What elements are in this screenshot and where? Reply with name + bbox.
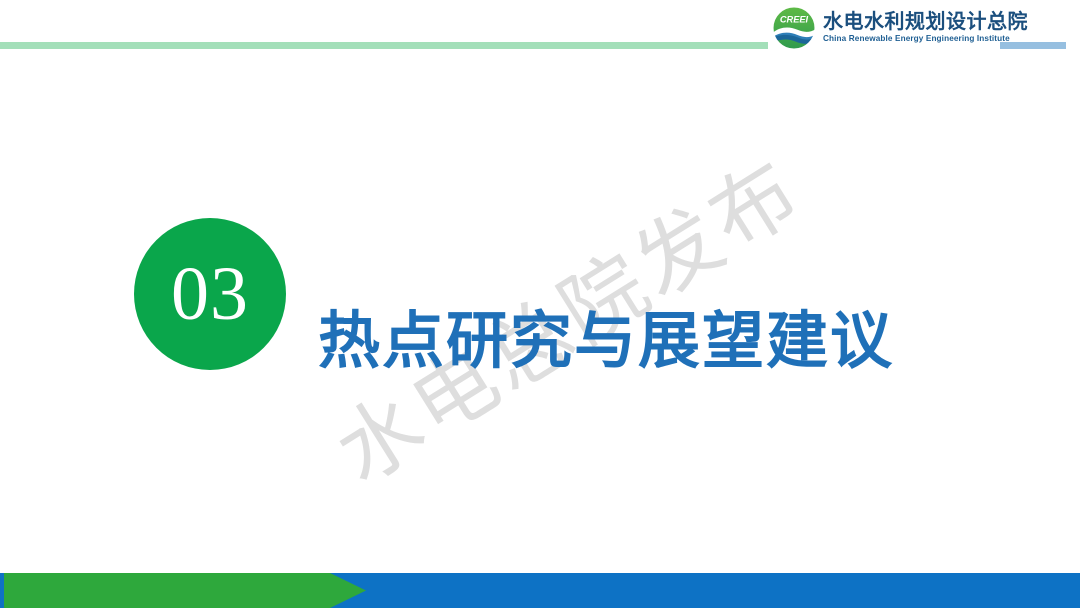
brand-header: CREEI 水电水利规划设计总院 China Renewable Energy … (772, 5, 1028, 51)
section-number-badge: 03 (134, 218, 286, 370)
header-rule-green (0, 42, 768, 49)
section-title: 热点研究与展望建议 (318, 308, 894, 376)
brand-text-block: 水电水利规划设计总院 China Renewable Energy Engine… (823, 12, 1028, 43)
organization-name-cn: 水电水利规划设计总院 (823, 12, 1028, 32)
footer-bar-green-chevron (0, 573, 366, 608)
creei-logo-acronym: CREEI (780, 15, 809, 25)
footer-bar (0, 573, 1080, 608)
creei-logo-icon: CREEI (772, 6, 816, 50)
organization-name-en: China Renewable Energy Engineering Insti… (823, 35, 1028, 43)
section-number: 03 (171, 256, 249, 332)
slide-canvas: CREEI 水电水利规划设计总院 China Renewable Energy … (0, 0, 1080, 608)
footer-bar-left-edge (0, 573, 4, 608)
